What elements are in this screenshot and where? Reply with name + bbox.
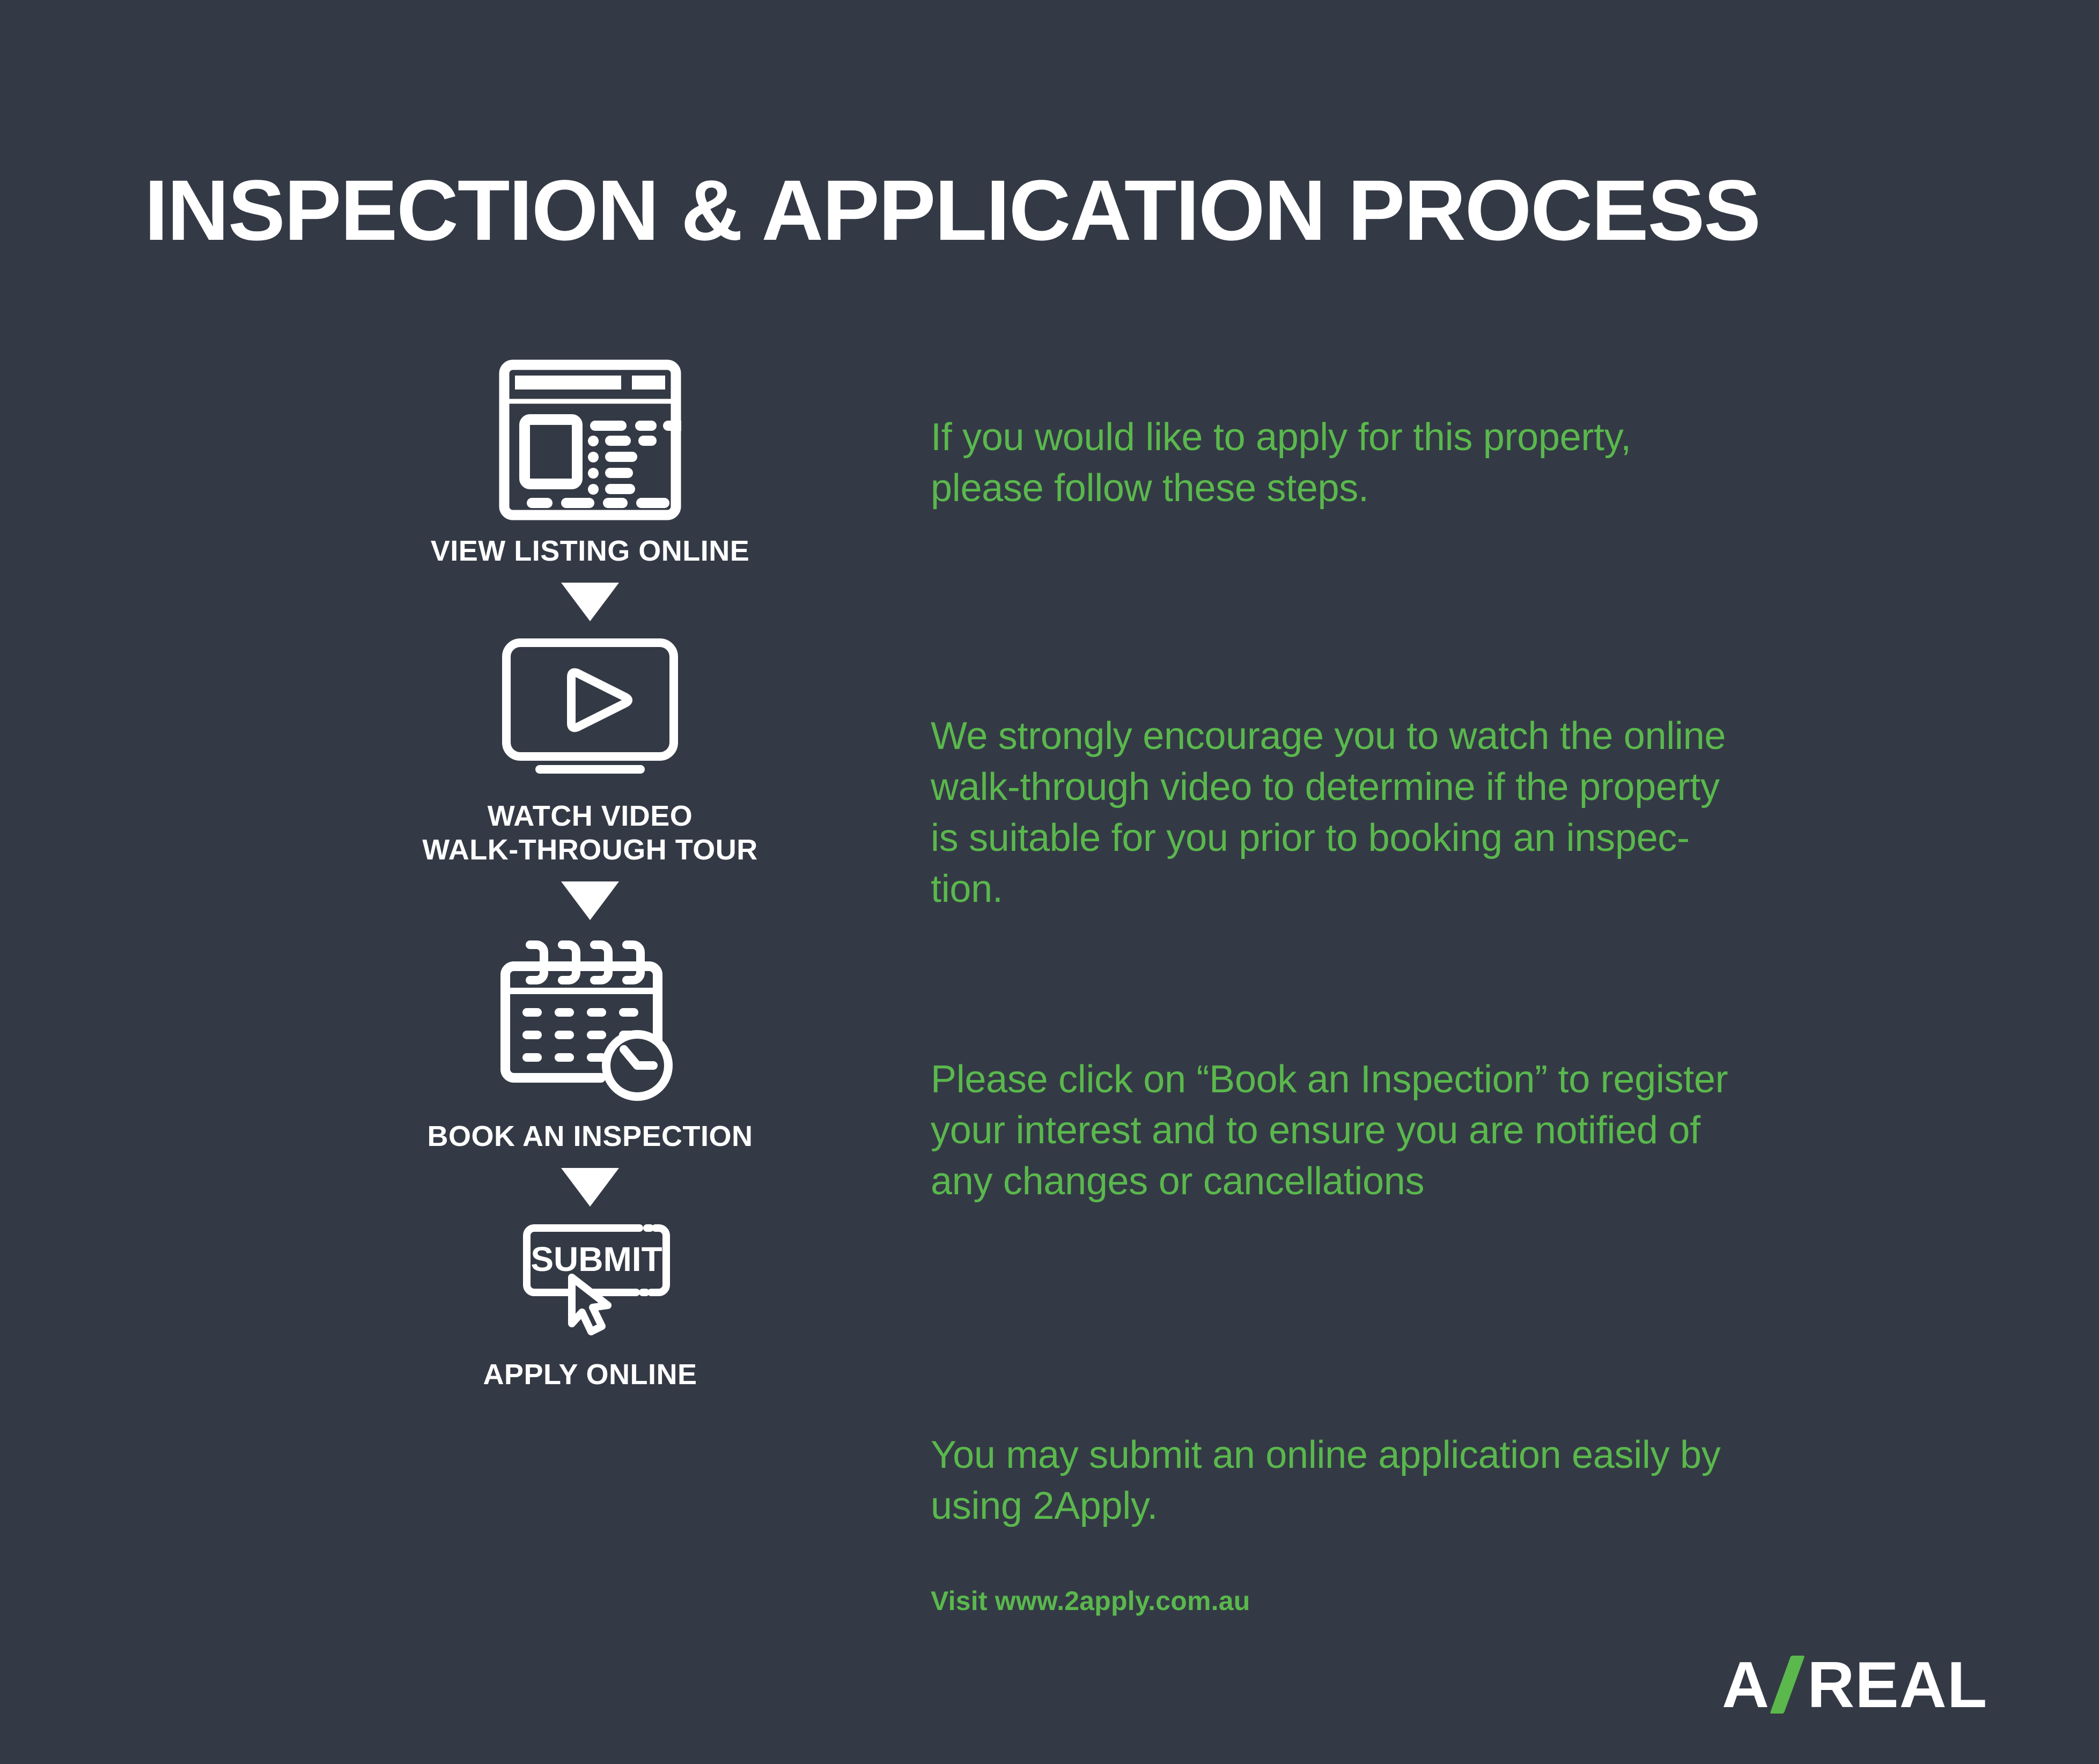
logo-word-real: REAL	[1807, 1647, 1987, 1722]
step-watch-video-walk-through-tour[interactable]: WATCH VIDEO WALK-THROUGH TOUR	[375, 635, 805, 868]
inspection-paragraph: Please click on “Book an Inspection” to …	[931, 1054, 1950, 1207]
step-view-listing-online[interactable]: VIEW LISTING ONLINE	[375, 359, 805, 569]
visit-link[interactable]: Visit www.2apply.com.au	[931, 1585, 1250, 1616]
logo-slash-icon	[1774, 1655, 1803, 1715]
step-label: VIEW LISTING ONLINE	[431, 534, 750, 569]
poster-canvas: INSPECTION & APPLICATION PROCESS	[0, 0, 2099, 1764]
submit-button-cursor-icon: SUBMIT	[499, 1221, 681, 1344]
video-paragraph: We strongly encourage you to watch the o…	[931, 711, 1950, 915]
flow-arrow-down-icon	[561, 881, 619, 920]
calendar-clock-icon	[499, 934, 681, 1106]
step-label: WATCH VIDEO WALK-THROUGH TOUR	[422, 799, 757, 868]
step-apply-online[interactable]: SUBMIT APPLY ONLINE	[375, 1221, 805, 1392]
flow-arrow-down-icon	[561, 583, 619, 621]
step-label: BOOK AN INSPECTION	[427, 1120, 753, 1154]
flow-arrow-down-icon	[561, 1168, 619, 1207]
video-play-monitor-icon	[499, 635, 681, 785]
browser-listing-icon	[499, 359, 681, 520]
steps-flow: VIEW LISTING ONLINE WATCH VIDEO WALK-THR…	[375, 359, 805, 1392]
step-book-an-inspection[interactable]: BOOK AN INSPECTION	[375, 934, 805, 1154]
page-title: INSPECTION & APPLICATION PROCESS	[0, 161, 1904, 260]
brand-logo: A REAL	[1722, 1647, 1987, 1722]
step-label: APPLY ONLINE	[483, 1358, 697, 1392]
submit-word: SUBMIT	[531, 1240, 662, 1278]
intro-paragraph: If you would like to apply for this prop…	[931, 412, 1950, 514]
apply-paragraph: You may submit an online application eas…	[931, 1430, 1950, 1532]
logo-letter-a: A	[1722, 1647, 1770, 1722]
